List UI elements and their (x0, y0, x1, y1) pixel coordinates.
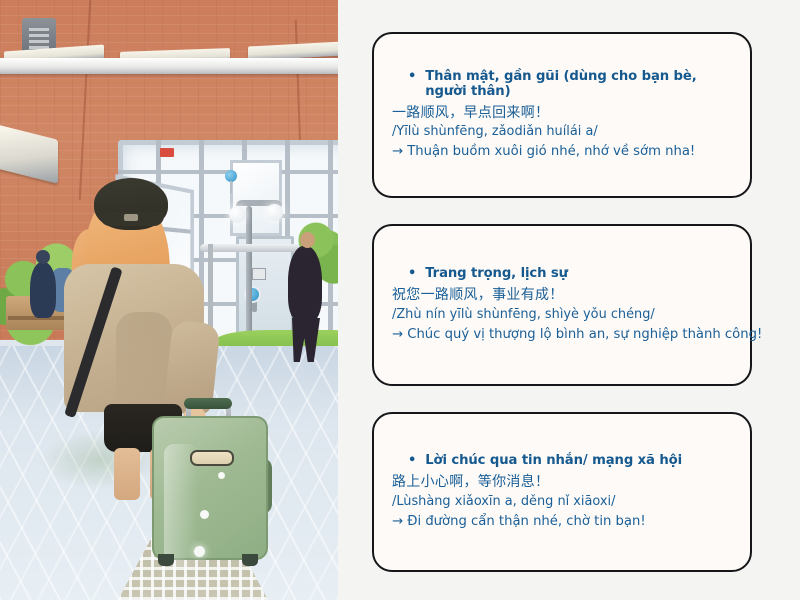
background-pedestrian (288, 246, 322, 322)
bullet-icon: • (408, 454, 416, 467)
door-plate (252, 268, 266, 280)
beanie-logo (124, 214, 138, 221)
chinese-phrase: 路上小心啊，等你消息！ (392, 472, 732, 492)
phrase-card: • Thân mật, gần gũi (dùng cho bạn bè, ng… (372, 32, 752, 198)
illustration-panel (0, 0, 338, 600)
bullet-icon: • (408, 267, 416, 280)
phrase-card-list: • Thân mật, gần gũi (dùng cho bạn bè, ng… (338, 0, 800, 600)
canopy-band (0, 58, 338, 74)
suitcase-badge (190, 450, 234, 466)
card-heading: • Thân mật, gần gũi (dùng cho bạn bè, ng… (392, 69, 732, 99)
phrase-card: • Trang trọng, lịch sự 祝您一路顺风，事业有成！ /Zhù… (372, 224, 752, 386)
bullet-icon: • (408, 70, 416, 83)
page-root: • Thân mật, gần gũi (dùng cho bạn bè, ng… (0, 0, 800, 600)
suitcase-wheel (242, 554, 258, 566)
card-heading-text: Lời chúc qua tin nhắn/ mạng xã hội (425, 453, 682, 468)
suitcase-body (152, 416, 268, 560)
red-sign (160, 148, 174, 157)
suitcase-highlight (194, 546, 205, 557)
coat-fold (116, 312, 172, 408)
background-pedestrian (30, 262, 56, 318)
card-heading-text: Trang trọng, lịch sự (425, 266, 568, 281)
card-heading: • Lời chúc qua tin nhắn/ mạng xã hội (392, 453, 732, 468)
vietnamese-translation: → Chúc quý vị thượng lộ bình an, sự nghi… (392, 325, 732, 344)
leg (114, 448, 140, 500)
chinese-phrase: 祝您一路顺风，事业有成！ (392, 285, 732, 305)
vietnamese-translation: → Đi đường cẩn thận nhé, chờ tin bạn! (392, 512, 732, 531)
pinyin-phrase: /Lùshàng xiǎoxīn a, děng nǐ xiāoxi/ (392, 493, 732, 512)
phrase-card: • Lời chúc qua tin nhắn/ mạng xã hội 路上小… (372, 412, 752, 572)
vietnamese-translation: → Thuận buồm xuôi gió nhé, nhớ về sớm nh… (392, 142, 732, 161)
lamp-globe (266, 204, 283, 221)
pinyin-phrase: /Yīlù shùnfēng, zǎodiǎn huílái a/ (392, 123, 732, 142)
card-heading: • Trang trọng, lịch sự (392, 266, 732, 281)
card-heading-text: Thân mật, gần gũi (dùng cho bạn bè, ngườ… (425, 69, 732, 99)
suitcase-wheel (158, 554, 174, 566)
rolling-suitcase (152, 398, 264, 568)
suitcase-highlight (218, 472, 225, 479)
chinese-phrase: 一路顺风，早点回来啊！ (392, 103, 732, 123)
suitcase-highlight (200, 510, 209, 519)
pinyin-phrase: /Zhù nín yīlù shùnfēng, shìyè yǒu chéng/ (392, 306, 732, 325)
suitcase-handle (184, 398, 232, 409)
